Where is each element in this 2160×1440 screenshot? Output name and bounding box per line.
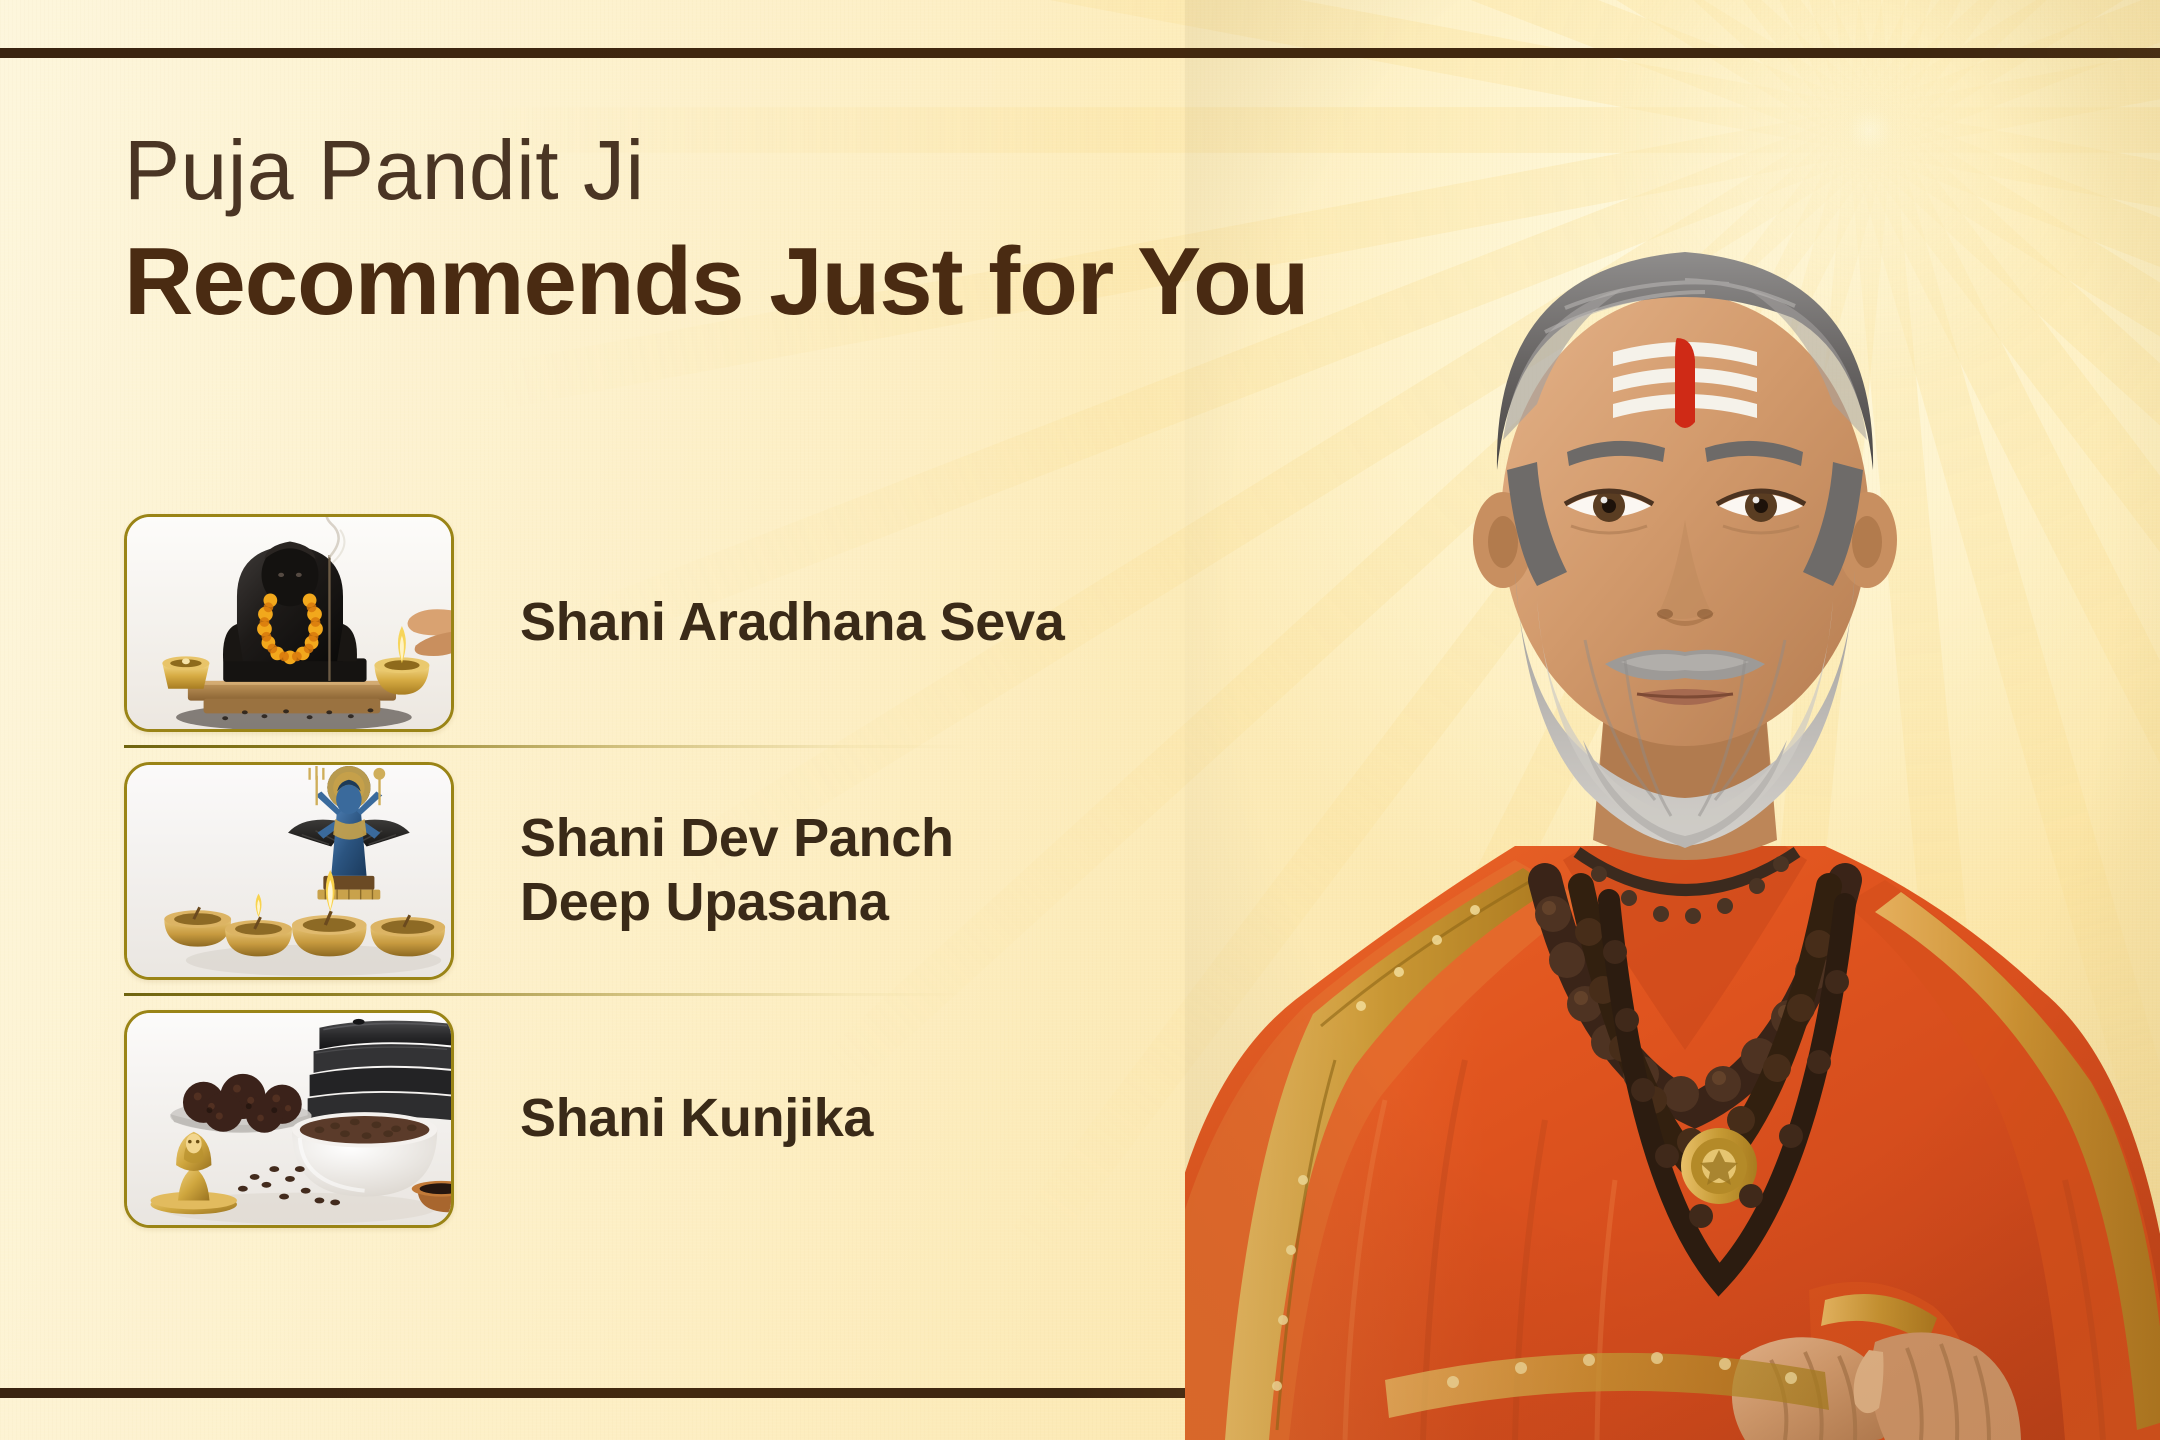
sunburst-ray bbox=[1866, 0, 2160, 153]
list-item-label: Shani Kunjika bbox=[520, 1087, 873, 1151]
sunburst-ray bbox=[1848, 124, 2160, 1440]
list-item-label: Shani Aradhana Seva bbox=[520, 591, 1065, 655]
list-item[interactable]: Shani Kunjika bbox=[124, 996, 1124, 1241]
sunburst-ray bbox=[1225, 120, 1890, 1394]
pandit-portrait bbox=[1185, 0, 2160, 1440]
recommendation-list: Shani Aradhana Seva bbox=[124, 500, 1124, 1241]
sunburst-ray bbox=[1847, 128, 2022, 1440]
bottom-rule bbox=[0, 1388, 1215, 1398]
sunburst-ray bbox=[1858, 110, 2160, 886]
sunburst-ray bbox=[1870, 107, 2160, 153]
sunburst-ray bbox=[1849, 120, 2160, 1394]
sunburst-ray bbox=[820, 0, 1886, 147]
shani-idol-aarti-thumbnail[interactable] bbox=[124, 514, 454, 732]
list-item-label: Shani Dev Panch Deep Upasana bbox=[520, 807, 954, 934]
sunburst-ray bbox=[1847, 0, 2022, 132]
sunburst-ray bbox=[1718, 0, 1893, 132]
sunburst-ray bbox=[1849, 0, 2160, 140]
shani-panch-deep-thumbnail[interactable] bbox=[124, 762, 454, 980]
headline-line-1: Puja Pandit Ji bbox=[124, 128, 1308, 212]
sunburst-ray bbox=[1852, 116, 2160, 1261]
sunburst-ray bbox=[1225, 0, 1890, 140]
sunburst-ray bbox=[1008, 0, 1888, 144]
sunburst-ray bbox=[1862, 109, 2160, 658]
sunburst-ray bbox=[1465, 124, 1892, 1440]
list-item[interactable]: Shani Dev Panch Deep Upasana bbox=[124, 748, 1124, 993]
sunburst-ray bbox=[1858, 0, 2160, 150]
sunburst-ray bbox=[1855, 0, 2160, 147]
page-title: Puja Pandit Ji Recommends Just for You bbox=[124, 128, 1308, 330]
sunburst-ray bbox=[1866, 107, 2160, 409]
sunburst-ray bbox=[1465, 0, 1892, 136]
headline-line-2: Recommends Just for You bbox=[124, 234, 1308, 330]
sunburst-ray bbox=[1848, 0, 2160, 136]
shani-kunjika-thumbnail[interactable] bbox=[124, 1010, 454, 1228]
sunburst-ray bbox=[1718, 128, 1893, 1440]
promo-banner: Puja Pandit Ji Recommends Just for You bbox=[0, 0, 2160, 1440]
sunburst-ray bbox=[1855, 113, 2160, 1090]
sunburst-ray bbox=[1862, 0, 2160, 151]
list-item[interactable]: Shani Aradhana Seva bbox=[124, 500, 1124, 745]
sunburst-ray bbox=[1852, 0, 2160, 144]
top-rule bbox=[0, 48, 2160, 58]
